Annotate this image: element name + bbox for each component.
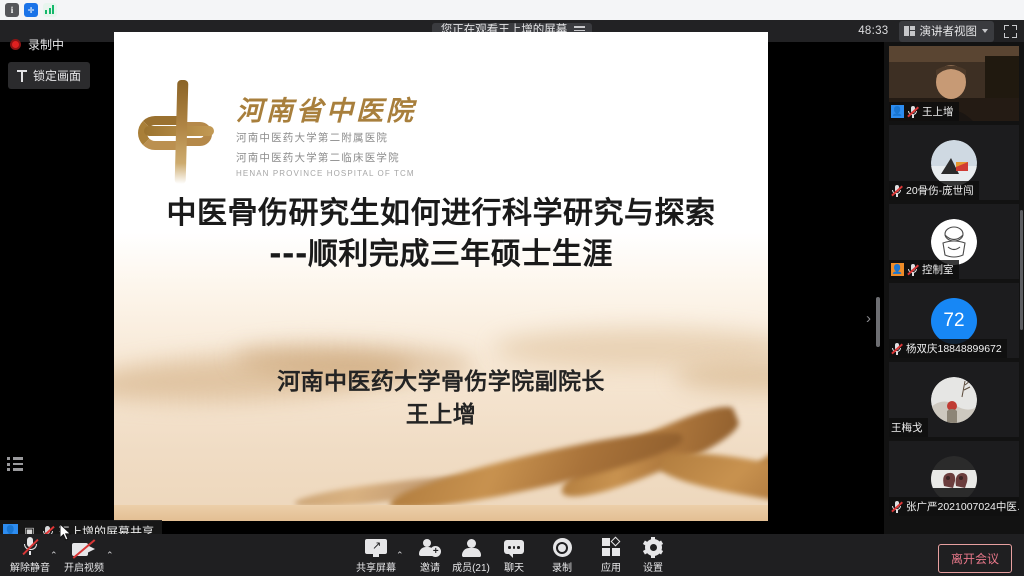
avatar-photo (931, 377, 977, 423)
participant-rail[interactable]: 👤 王上增 20骨伤-庞世闯 (884, 42, 1024, 534)
participant-name: 20骨伤-庞世闯 (906, 183, 974, 198)
mouse-cursor (60, 524, 72, 541)
participant-tile[interactable]: 👤 控制室 (889, 204, 1019, 279)
recording-label: 录制中 (28, 36, 64, 53)
slide-title: 中医骨伤研究生如何进行科学研究与探索 ---顺利完成三年硕士生涯 (114, 194, 768, 276)
shared-screen-stage: 河南省中医院 河南中医药大学第二附属医院 河南中医药大学第二临床医学院 HENA… (0, 42, 884, 534)
chevron-down-icon (982, 29, 988, 33)
presentation-slide[interactable]: 河南省中医院 河南中医药大学第二附属医院 河南中医药大学第二临床医学院 HENA… (114, 32, 768, 521)
mic-muted-icon (907, 263, 919, 276)
participant-name-chip: 👤 王上增 (889, 102, 959, 121)
host-badge-icon: 👤 (891, 105, 904, 118)
pin-icon (17, 70, 27, 82)
meeting-timer: 48:33 (858, 25, 888, 37)
record-label: 录制 (552, 559, 572, 574)
mic-muted-icon (22, 537, 39, 557)
participant-tile[interactable]: 王梅戈 (889, 362, 1019, 437)
avatar-photo (931, 140, 977, 186)
participant-name: 张广严2021007024中医… (906, 499, 1019, 514)
mic-muted-icon (891, 500, 903, 513)
recording-indicator: 录制中 (10, 36, 64, 53)
record-icon (553, 537, 572, 557)
mic-muted-icon (907, 105, 919, 118)
participant-name-chip: 王梅戈 (889, 418, 928, 437)
shield-icon[interactable]: ✛ (24, 3, 38, 17)
participant-name-chip: 👤 控制室 (889, 260, 959, 279)
slide-presenter-block: 河南中医药大学骨伤学院副院长 王上增 (114, 366, 768, 431)
leave-meeting-button[interactable]: 离开会议 (938, 544, 1012, 573)
participant-name-chip: 20骨伤-庞世闯 (889, 181, 979, 200)
meeting-toolbar: 解除静音 ⌃ 开启视频 ⌃ ↗ 共享屏幕 ⌃ + 邀请 成员 (0, 534, 1024, 576)
lock-screen-label: 锁定画面 (33, 67, 81, 84)
settings-label: 设置 (643, 559, 663, 574)
start-video-button[interactable]: 开启视频 (56, 537, 112, 574)
meeting-window: i ✛ 您正在观看王上增的屏幕 48:33 演讲者视图 (0, 0, 1024, 576)
camera-off-icon (72, 537, 96, 557)
header-right-controls: 48:33 演讲者视图 (858, 20, 1020, 42)
share-screen-icon: ↗ (365, 537, 387, 557)
avatar-photo (931, 219, 977, 265)
hospital-logo: 河南省中医院 河南中医药大学第二附属医院 河南中医药大学第二临床医学院 HENA… (130, 80, 416, 188)
avatar-photo (931, 456, 977, 502)
participant-tile[interactable]: 👤 王上增 (889, 46, 1019, 121)
logo-subtitle-2: 河南中医药大学第二临床医学院 (236, 150, 416, 165)
apps-grid-icon (602, 537, 621, 557)
slide-title-line-2: ---顺利完成三年硕士生涯 (114, 235, 768, 276)
co-host-badge-icon: 👤 (891, 263, 904, 276)
presenter-name: 王上增 (114, 399, 768, 432)
avatar (931, 377, 977, 423)
list-view-icon[interactable] (7, 457, 23, 471)
view-mode-label: 演讲者视图 (920, 23, 978, 39)
share-screen-label: 共享屏幕 (356, 559, 396, 574)
participant-tile[interactable]: 20骨伤-庞世闯 (889, 125, 1019, 200)
logo-subtitle-en: HENAN PROVINCE HOSPITAL OF TCM (236, 169, 416, 178)
unmute-label: 解除静音 (10, 559, 50, 574)
participant-name-chip: 张广严2021007024中医… (889, 497, 1019, 516)
signal-bars-icon[interactable] (43, 3, 57, 17)
speaker-view-icon (904, 26, 915, 36)
lock-screen-button[interactable]: 锁定画面 (8, 62, 90, 89)
record-button[interactable]: 录制 (534, 537, 590, 574)
avatar (931, 140, 977, 186)
view-mode-selector[interactable]: 演讲者视图 (899, 21, 995, 42)
record-dot-icon (10, 39, 21, 50)
mic-muted-icon (891, 184, 903, 197)
start-video-label: 开启视频 (64, 559, 104, 574)
invite-person-icon: + (419, 537, 441, 557)
participant-name: 杨双庆18848899672 (906, 341, 1002, 356)
members-label: 成员(21) (452, 559, 490, 574)
participant-name: 王上增 (922, 104, 954, 119)
os-top-strip: i ✛ (0, 0, 1024, 20)
video-options-chevron-icon[interactable]: ⌃ (106, 550, 114, 561)
participant-name: 王梅戈 (891, 420, 923, 435)
participant-name-chip: 杨双庆18848899672 (889, 339, 1007, 358)
mountain-wash (494, 328, 768, 368)
slide-title-line-1: 中医骨伤研究生如何进行科学研究与探索 (114, 194, 768, 235)
chat-label: 聊天 (504, 559, 524, 574)
stage-scrollbar[interactable] (876, 297, 880, 347)
logo-mark-icon (130, 80, 226, 188)
avatar (931, 456, 977, 502)
exit-fullscreen-icon[interactable] (1004, 25, 1017, 38)
avatar: 72 (931, 298, 977, 344)
invite-label: 邀请 (420, 559, 440, 574)
logo-main-title: 河南省中医院 (236, 98, 416, 125)
members-icon (461, 537, 481, 557)
presenter-role: 河南中医药大学骨伤学院副院长 (114, 366, 768, 399)
avatar-initials: 72 (943, 310, 964, 332)
gear-icon (644, 537, 663, 557)
participant-rail-scrollbar[interactable] (1020, 210, 1023, 330)
settings-button[interactable]: 设置 (625, 537, 681, 574)
info-icon[interactable]: i (5, 3, 19, 17)
participant-name: 控制室 (922, 262, 954, 277)
participant-tile[interactable]: 张广严2021007024中医… (889, 441, 1019, 516)
logo-subtitle-1: 河南中医药大学第二附属医院 (236, 130, 416, 145)
logo-text-block: 河南省中医院 河南中医药大学第二附属医院 河南中医药大学第二临床医学院 HENA… (236, 80, 416, 178)
slide-base-band (114, 505, 768, 521)
mic-muted-icon (891, 342, 903, 355)
apps-label: 应用 (601, 559, 621, 574)
chat-icon (504, 537, 524, 557)
participant-tile[interactable]: 72 杨双庆18848899672 (889, 283, 1019, 358)
avatar (931, 219, 977, 265)
